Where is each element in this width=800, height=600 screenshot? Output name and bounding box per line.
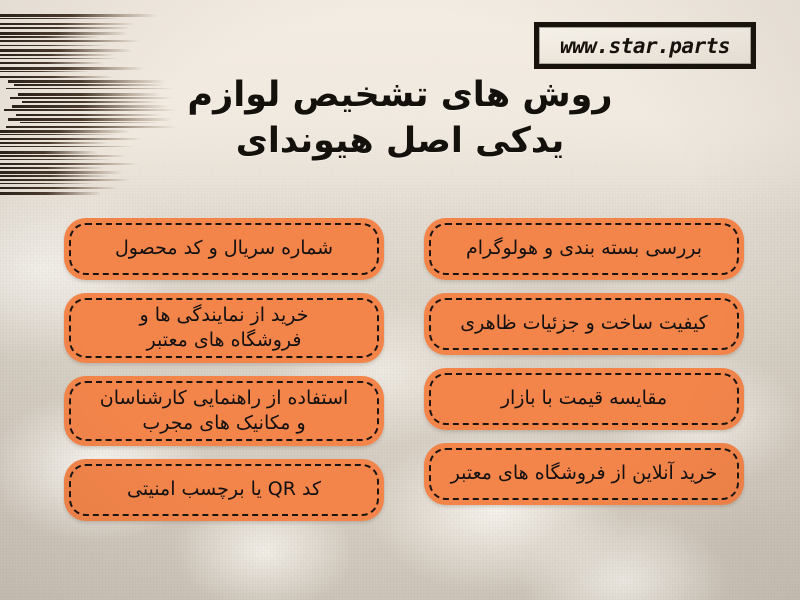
list-item[interactable]: شماره سریال و کد محصول [64, 218, 384, 280]
page-title-line-1: روش های تشخیص لوازم [120, 72, 680, 118]
page-title-line-2: یدکی اصل هیوندای [120, 118, 680, 164]
list-item-label: کیفیت ساخت و جزئیات ظاهری [460, 311, 707, 336]
list-item[interactable]: کیفیت ساخت و جزئیات ظاهری [424, 293, 744, 355]
list-item-label: شماره سریال و کد محصول [115, 236, 333, 261]
list-item-label: خرید آنلاین از فروشگاه های معتبر [451, 461, 718, 486]
site-logo-inner: www.star.parts [539, 27, 751, 64]
page-title: روش های تشخیص لوازم یدکی اصل هیوندای [120, 72, 680, 164]
site-logo-badge[interactable]: www.star.parts [534, 22, 756, 69]
infographic-poster: www.star.parts روش های تشخیص لوازم یدکی … [0, 0, 800, 600]
list-item[interactable]: کد QR یا برچسب امنیتی [64, 459, 384, 521]
list-item-label: کد QR یا برچسب امنیتی [127, 477, 321, 502]
list-item[interactable]: بررسی بسته بندی و هولوگرام [424, 218, 744, 280]
list-item[interactable]: خرید از نمایندگی ها و فروشگاه های معتبر [64, 293, 384, 363]
site-logo-text: www.star.parts [560, 34, 730, 58]
list-item-label: بررسی بسته بندی و هولوگرام [466, 236, 702, 261]
left-column: شماره سریال و کد محصولخرید از نمایندگی ه… [64, 218, 384, 534]
right-column: بررسی بسته بندی و هولوگرامکیفیت ساخت و ج… [424, 218, 744, 518]
list-item-label: خرید از نمایندگی ها و فروشگاه های معتبر [139, 303, 308, 354]
list-item-label: استفاده از راهنمایی کارشناسان و مکانیک ه… [100, 386, 349, 437]
list-item[interactable]: خرید آنلاین از فروشگاه های معتبر [424, 443, 744, 505]
list-item[interactable]: مقایسه قیمت با بازار [424, 368, 744, 430]
list-item-label: مقایسه قیمت با بازار [501, 386, 667, 411]
list-item[interactable]: استفاده از راهنمایی کارشناسان و مکانیک ه… [64, 376, 384, 446]
